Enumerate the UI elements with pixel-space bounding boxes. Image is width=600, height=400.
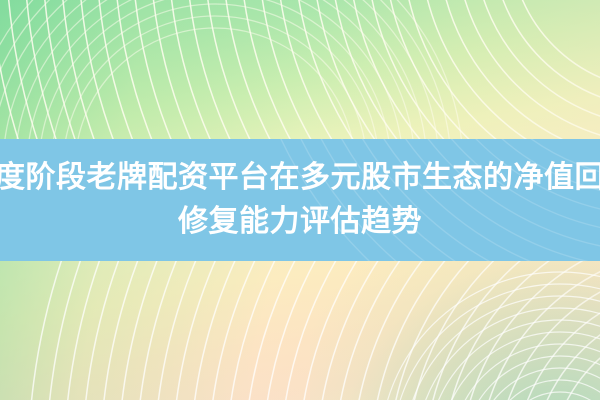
title-band: 月度阶段老牌配资平台在多元股市生态的净值回撤 修复能力评估趋势 bbox=[0, 139, 600, 261]
banner-title-line-2: 修复能力评估趋势 bbox=[178, 200, 422, 244]
banner-title-line-1: 月度阶段老牌配资平台在多元股市生态的净值回撤 bbox=[0, 156, 600, 200]
promo-banner: 月度阶段老牌配资平台在多元股市生态的净值回撤 修复能力评估趋势 bbox=[0, 0, 600, 400]
